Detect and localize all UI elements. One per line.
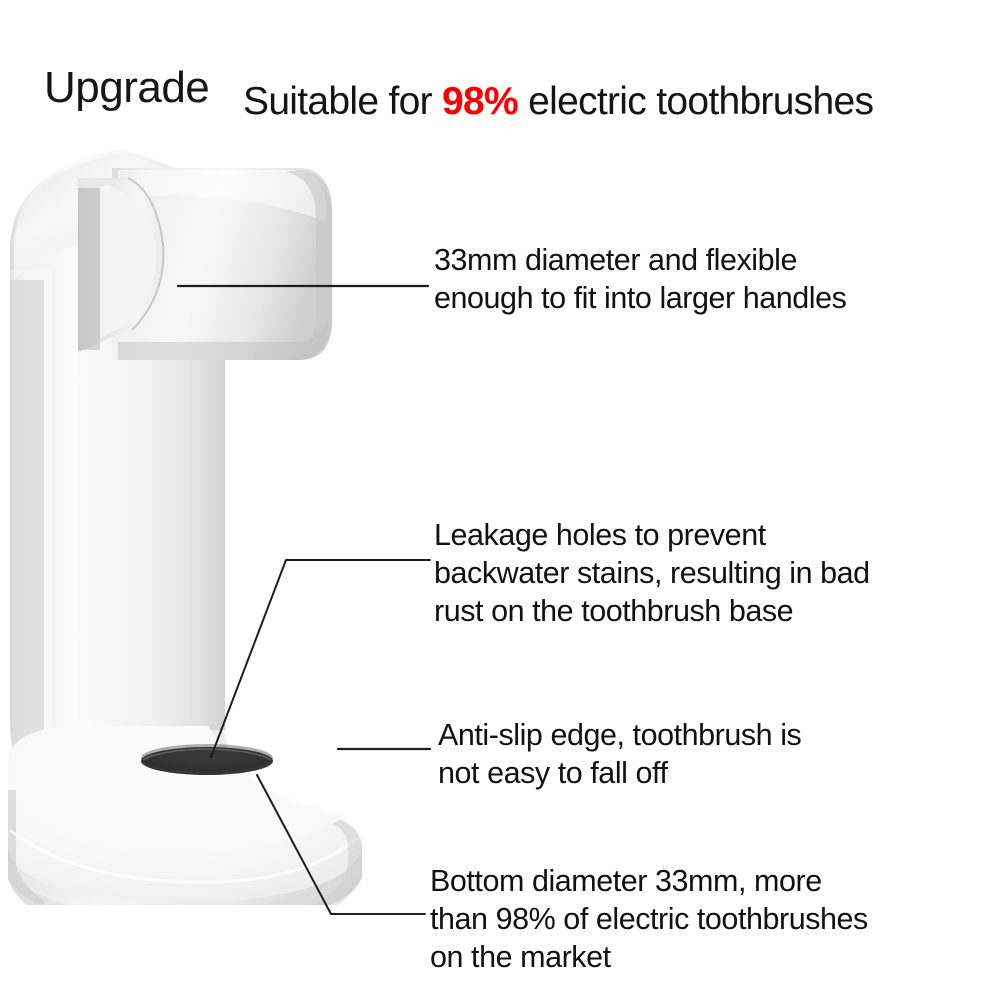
callout-leakage-holes: Leakage holes to prevent backwater stain… [434, 516, 1000, 630]
headline-suffix: electric toothbrushes [518, 80, 873, 123]
callout-bottom-diameter: Bottom diameter 33mm, more than 98% of e… [430, 862, 1002, 976]
product-illustration [0, 130, 400, 905]
holder-clip-block [78, 168, 332, 360]
page-title: Suitable for 98% electric toothbrushes [243, 79, 873, 125]
callout-diameter-flexible: 33mm diameter and flexible enough to fit… [434, 241, 994, 317]
callout-anti-slip-edge: Anti-slip edge, toothbrush is not easy t… [438, 716, 994, 792]
upgrade-badge: Upgrade [44, 62, 209, 114]
headline-row: Upgrade Suitable for 98% electric toothb… [0, 62, 1002, 128]
headline-prefix: Suitable for [243, 80, 442, 123]
headline-accent-percentage: 98% [442, 80, 518, 123]
product-infographic: Upgrade Suitable for 98% electric toothb… [0, 0, 1002, 1002]
